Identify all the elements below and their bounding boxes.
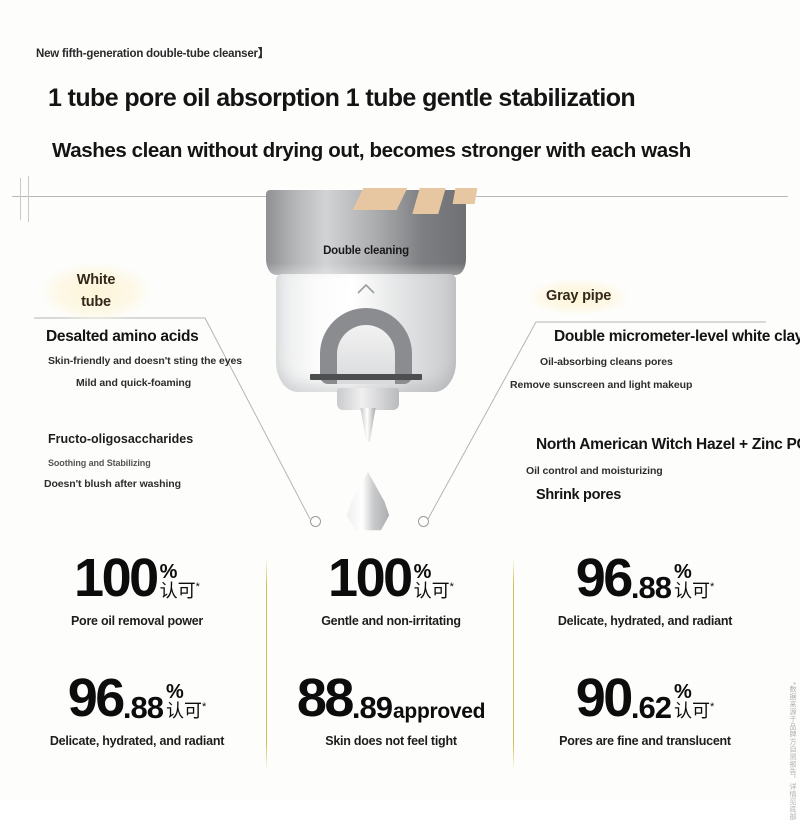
stat-unit-cn: 认可* bbox=[166, 702, 206, 720]
stat-caption: Delicate, hydrated, and radiant bbox=[522, 614, 768, 628]
stat-decimal: .88 bbox=[631, 572, 671, 603]
stat-cell: 90 .62 % 认可* Pores are fine and transluc… bbox=[522, 674, 768, 748]
stat-integer: 96 bbox=[68, 674, 123, 724]
annotation-right-g2-line2: Shrink pores bbox=[536, 487, 800, 503]
stat-number: 96 .88 % 认可* bbox=[14, 674, 260, 724]
stat-cell: 100 % 认可* Gentle and non-irritating bbox=[268, 554, 514, 628]
annotation-left-g1-line1: Skin-friendly and doesn't sting the eyes bbox=[48, 355, 242, 367]
stat-caption: Skin does not feel tight bbox=[268, 734, 514, 748]
stat-unit: % 认可* bbox=[166, 682, 206, 721]
nozzle-spout bbox=[359, 408, 377, 442]
chevron-up-icon bbox=[356, 283, 376, 294]
stat-decimal: .88 bbox=[123, 692, 163, 723]
stat-unit-cn: 认可* bbox=[414, 582, 454, 600]
stat-cell: 96 .88 % 认可* Delicate, hydrated, and rad… bbox=[14, 674, 260, 748]
badge-white-tube-line1: White bbox=[60, 270, 132, 292]
stat-integer: 100 bbox=[74, 554, 157, 604]
stat-unit-cn: 认可* bbox=[674, 702, 714, 720]
stat-integer: 88 bbox=[297, 674, 352, 724]
stat-decimal: .62 bbox=[631, 692, 671, 723]
stat-integer: 90 bbox=[576, 674, 631, 724]
horseshoe-bar bbox=[310, 374, 422, 380]
tube-text: Double cleaning bbox=[266, 245, 466, 257]
annotation-left-group-1: Desalted amino acids Skin-friendly and d… bbox=[46, 328, 242, 389]
badge-white-tube: White tube bbox=[44, 264, 148, 320]
annotation-right-g2-line1: Oil control and moisturizing bbox=[526, 465, 800, 477]
stat-cell: 96 .88 % 认可* Delicate, hydrated, and rad… bbox=[522, 554, 768, 628]
badge-gray-pipe: Gray pipe bbox=[530, 280, 627, 314]
footnote-disclaimer: *数据来源于品牌方自测报告，详情见底部 bbox=[782, 682, 796, 820]
stat-unit: % 认可* bbox=[674, 562, 714, 601]
stat-cell: 100 % 认可* Pore oil removal power bbox=[14, 554, 260, 628]
tube-label-patch-a bbox=[353, 188, 408, 210]
promo-page: New fifth-generation double-tube cleanse… bbox=[0, 0, 800, 800]
annotation-left-g2-line2: Doesn't blush after washing bbox=[44, 478, 193, 490]
annotation-right-g1-title: Double micrometer-level white clay bbox=[554, 328, 800, 346]
tube-body: Double cleaning bbox=[266, 190, 466, 275]
stat-decimal: .89 bbox=[352, 692, 392, 723]
stat-integer: 100 bbox=[328, 554, 411, 604]
stat-caption: Pore oil removal power bbox=[14, 614, 260, 628]
stat-caption: Gentle and non-irritating bbox=[268, 614, 514, 628]
tube-label-patch-c bbox=[453, 188, 478, 204]
stat-unit: % 认可* bbox=[674, 682, 714, 721]
annotation-left-g2-title: Fructo-oligosaccharides bbox=[48, 432, 193, 446]
stat-integer: 96 bbox=[576, 554, 631, 604]
leader-endpoint-left bbox=[310, 516, 321, 527]
stat-number: 100 % 认可* bbox=[268, 554, 514, 604]
annotation-left-g2-line1: Soothing and Stabilizing bbox=[48, 458, 193, 468]
percent-symbol: % bbox=[166, 682, 184, 702]
product-illustration: Double cleaning bbox=[258, 190, 478, 540]
annotation-left-g1-title: Desalted amino acids bbox=[46, 328, 242, 346]
nozzle-chamber bbox=[276, 274, 456, 392]
page-subtitle: Washes clean without drying out, becomes… bbox=[52, 139, 691, 163]
tube-label-patch-b bbox=[412, 188, 445, 214]
stat-unit-cn: 认可* bbox=[674, 582, 714, 600]
stat-number: 100 % 认可* bbox=[14, 554, 260, 604]
annotation-left-group-2: Fructo-oligosaccharides Soothing and Sta… bbox=[44, 432, 193, 490]
kicker-text: New fifth-generation double-tube cleanse… bbox=[36, 45, 269, 61]
stat-unit: % 认可* bbox=[414, 562, 454, 601]
stat-approved-label: approved bbox=[393, 701, 485, 722]
nozzle-collar bbox=[337, 388, 399, 410]
stat-unit: % 认可* bbox=[160, 562, 200, 601]
stat-number: 90 .62 % 认可* bbox=[522, 674, 768, 724]
annotation-left-g1-line2: Mild and quick-foaming bbox=[76, 377, 242, 389]
annotation-right-g1-line2: Remove sunscreen and light makeup bbox=[510, 379, 800, 391]
leader-endpoint-right bbox=[418, 516, 429, 527]
divider-tick-1 bbox=[20, 178, 21, 220]
annotation-right-g1-line1: Oil-absorbing cleans pores bbox=[540, 356, 800, 368]
page-title: 1 tube pore oil absorption 1 tube gentle… bbox=[48, 84, 635, 113]
annotation-right-group-1: Double micrometer-level white clay Oil-a… bbox=[508, 328, 800, 391]
annotation-right-group-2: North American Witch Hazel + Zinc PCA Oi… bbox=[508, 436, 800, 503]
percent-symbol: % bbox=[674, 562, 692, 582]
stat-cell: 88 .89 approved Skin does not feel tight bbox=[268, 674, 514, 748]
horseshoe-shape bbox=[320, 308, 412, 384]
stat-unit-cn: 认可* bbox=[160, 582, 200, 600]
stat-number: 96 .88 % 认可* bbox=[522, 554, 768, 604]
product-droplet bbox=[345, 472, 391, 534]
divider-tick-2 bbox=[28, 176, 29, 222]
stats-grid: 100 % 认可* Pore oil removal power 100 % 认… bbox=[0, 548, 800, 780]
percent-symbol: % bbox=[414, 562, 432, 582]
percent-symbol: % bbox=[160, 562, 178, 582]
badge-white-tube-line2: tube bbox=[60, 292, 132, 314]
annotation-right-g2-title: North American Witch Hazel + Zinc PCA bbox=[536, 436, 800, 454]
stat-caption: Pores are fine and translucent bbox=[522, 734, 768, 748]
stat-caption: Delicate, hydrated, and radiant bbox=[14, 734, 260, 748]
percent-symbol: % bbox=[674, 682, 692, 702]
stat-number: 88 .89 approved bbox=[268, 674, 514, 724]
